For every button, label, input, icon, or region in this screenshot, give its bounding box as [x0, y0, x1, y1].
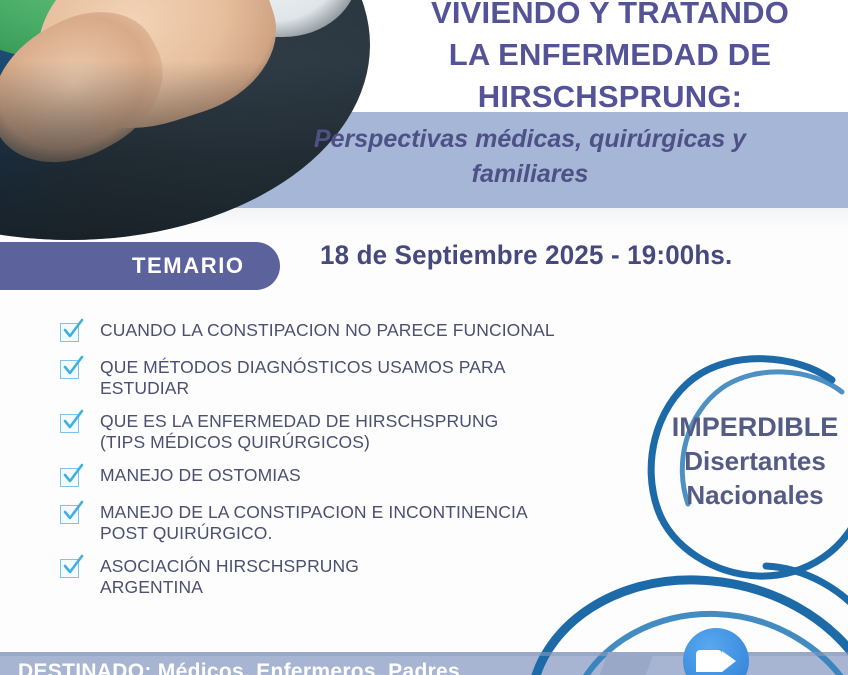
checkbox-checked-icon: [60, 505, 82, 527]
poster-canvas: VIVIENDO Y TRATANDO LA ENFERMEDAD DE HIR…: [0, 0, 848, 675]
title-line-2: LA ENFERMEDAD DE: [390, 34, 830, 76]
hero-photo: [0, 0, 370, 240]
checkbox-checked-icon: [60, 559, 82, 581]
agenda-item: MANEJO DE LA CONSTIPACION E INCONTINENCI…: [60, 502, 660, 544]
agenda-item-label: CUANDO LA CONSTIPACION NO PARECE FUNCION…: [100, 320, 555, 341]
agenda-item: ASOCIACIÓN HIRSCHSPRUNG ARGENTINA: [60, 556, 660, 598]
agenda-item-label: MANEJO DE LA CONSTIPACION E INCONTINENCI…: [100, 502, 528, 544]
zoom-icon-camera: [696, 650, 736, 672]
title-line-3: HIRSCHSPRUNG:: [390, 76, 830, 118]
footer-text: DESTINADO: Médicos, Enfermeros, Padres: [18, 660, 460, 675]
agenda-list: CUANDO LA CONSTIPACION NO PARECE FUNCION…: [60, 320, 660, 608]
highlight-line-2: Disertantes: [650, 444, 848, 478]
hero-photo-image: [0, 0, 370, 240]
checkbox-checked-icon: [60, 468, 82, 490]
agenda-item: CUANDO LA CONSTIPACION NO PARECE FUNCION…: [60, 320, 660, 345]
zoom-video-icon: [683, 628, 749, 675]
title-line-1: VIVIENDO Y TRATANDO: [390, 0, 830, 34]
checkbox-checked-icon: [60, 360, 82, 382]
footer-corner-tab: [600, 652, 654, 675]
agenda-item: MANEJO DE OSTOMIAS: [60, 465, 660, 490]
checkbox-checked-icon: [60, 414, 82, 436]
agenda-item-label: ASOCIACIÓN HIRSCHSPRUNG ARGENTINA: [100, 556, 359, 598]
highlight-text: IMPERDIBLE Disertantes Nacionales: [650, 410, 848, 512]
agenda-item-label: QUE ES LA ENFERMEDAD DE HIRSCHSPRUNG (TI…: [100, 411, 498, 453]
temario-badge-label: TEMARIO: [132, 253, 245, 279]
poster-subtitle: Perspectivas médicas, quirúrgicas y fami…: [250, 122, 810, 192]
poster-title: VIVIENDO Y TRATANDO LA ENFERMEDAD DE HIR…: [390, 0, 830, 118]
agenda-item-label: MANEJO DE OSTOMIAS: [100, 465, 301, 486]
event-date: 18 de Septiembre 2025 - 19:00hs.: [320, 240, 732, 271]
agenda-item: QUE ES LA ENFERMEDAD DE HIRSCHSPRUNG (TI…: [60, 411, 660, 453]
subtitle-line-2: familiares: [250, 157, 810, 192]
agenda-item: QUE MÉTODOS DIAGNÓSTICOS USAMOS PARA EST…: [60, 357, 660, 399]
highlight-line-3: Nacionales: [650, 478, 848, 512]
agenda-item-label: QUE MÉTODOS DIAGNÓSTICOS USAMOS PARA EST…: [100, 357, 506, 399]
checkbox-checked-icon: [60, 323, 82, 345]
subtitle-line-1: Perspectivas médicas, quirúrgicas y: [250, 122, 810, 157]
highlight-line-1: IMPERDIBLE: [650, 410, 848, 444]
